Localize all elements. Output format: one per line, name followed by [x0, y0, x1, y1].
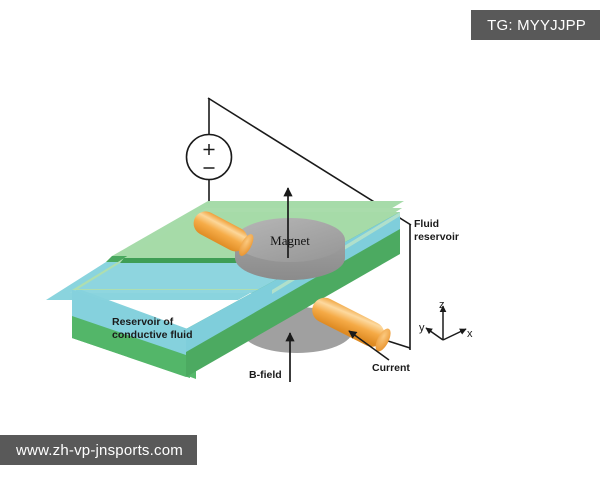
label-reservoir-of-conductive-fluid: Reservoir of conductive fluid	[112, 316, 222, 342]
label-fluid-reservoir: Fluid reservoir	[414, 218, 484, 244]
tag-watermark-badge: TG: MYYJJPP	[471, 10, 600, 40]
figure-root: Reservoir of conductive fluid Fluid rese…	[0, 0, 600, 480]
wire-segment-electrode-link	[388, 341, 410, 348]
axis-x-arrow	[443, 329, 466, 340]
label-magnet: Magnet	[240, 233, 340, 249]
axis-label-x: x	[467, 328, 473, 340]
axis-label-y: y	[419, 322, 425, 334]
power-source-circle[interactable]	[187, 135, 232, 180]
upper-magnet	[235, 218, 345, 280]
label-current: Current	[372, 362, 432, 375]
url-watermark-badge: www.zh-vp-jnsports.com	[0, 435, 197, 465]
coordinate-axes	[426, 306, 466, 340]
axis-label-z: z	[439, 299, 445, 311]
label-b-field: B-field	[249, 369, 299, 382]
power-source[interactable]	[187, 135, 232, 180]
axis-y-arrow	[426, 328, 443, 340]
